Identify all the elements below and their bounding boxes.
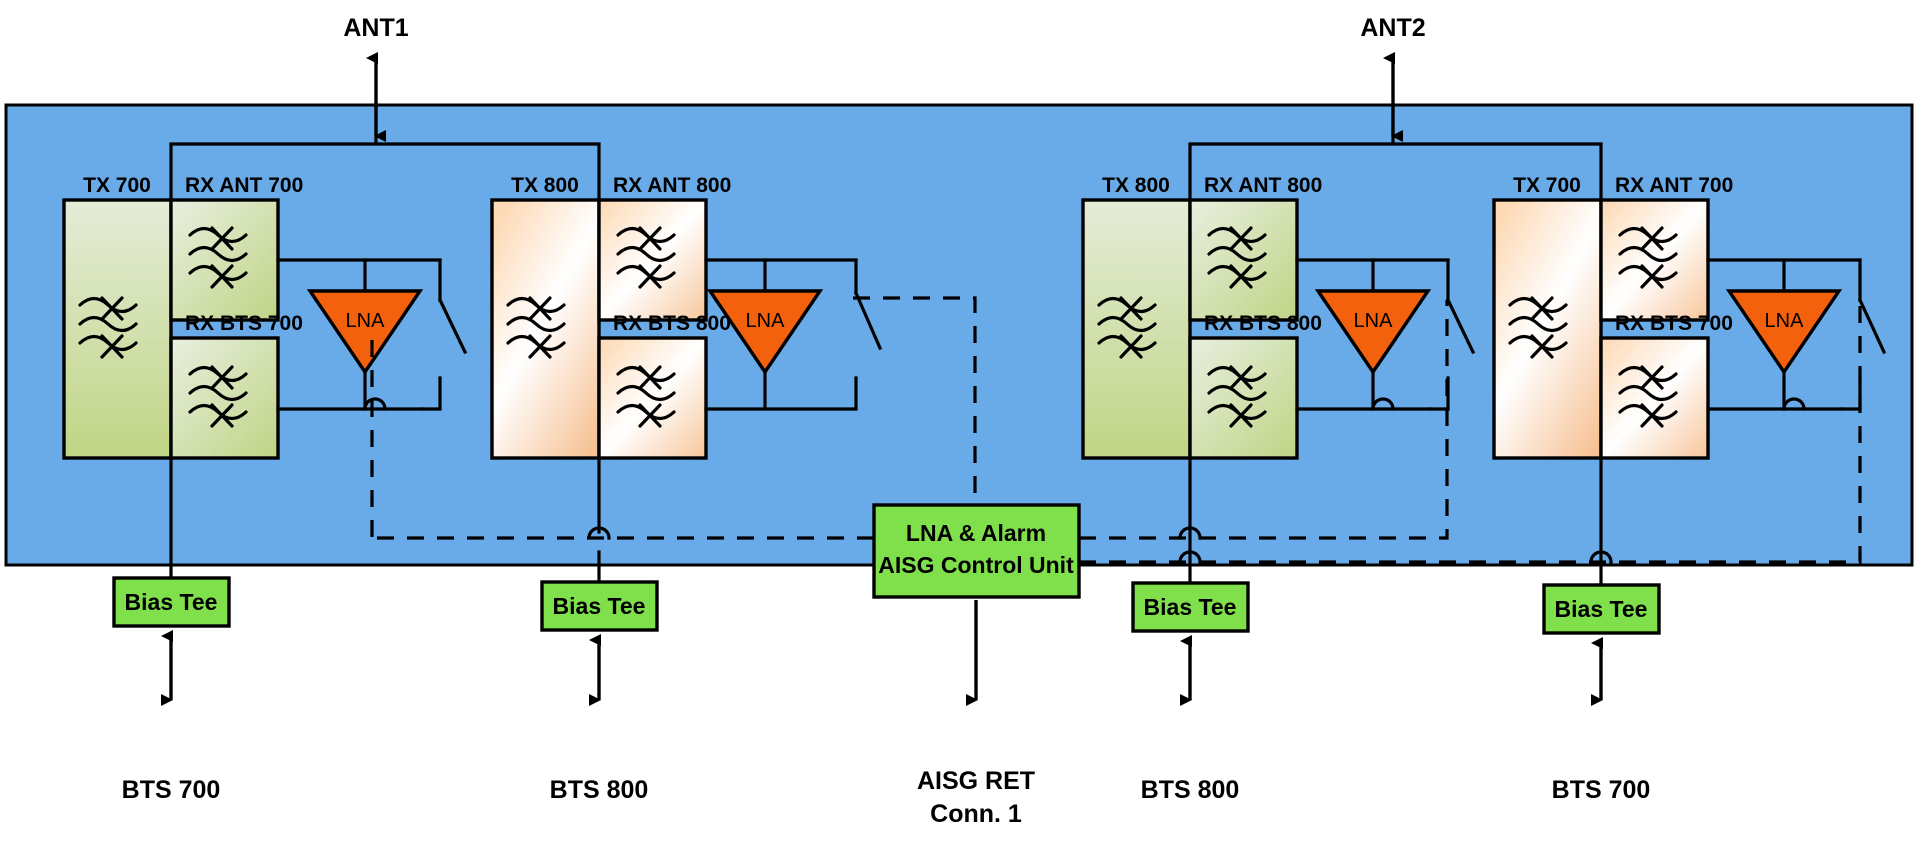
g2-tx-label: TX 800 — [511, 174, 579, 197]
g4-lna-label: LNA — [1765, 310, 1805, 332]
g4-tx-label: TX 700 — [1513, 174, 1581, 197]
g4-rx-ant-label: RX ANT 700 — [1615, 174, 1733, 197]
aisg-ret-label-line1: AISG RET — [917, 767, 1035, 795]
rf-block-diagram: ANT1 ANT2 TX 700 RX ANT 700 RX BTS 700 L… — [0, 0, 1918, 850]
g2-rx-bts-label: RX BTS 800 — [613, 312, 731, 335]
g1-tx-label: TX 700 — [83, 174, 151, 197]
g2-lna-label: LNA — [746, 310, 786, 332]
g4-bts-label: BTS 700 — [1552, 776, 1651, 804]
diagram-canvas: ANT1 ANT2 TX 700 RX ANT 700 RX BTS 700 L… — [0, 0, 1918, 850]
g1-lna-label: LNA — [346, 310, 386, 332]
aisg-control-unit-line1: LNA & Alarm — [906, 520, 1046, 546]
aisg-control-unit-box — [874, 505, 1079, 597]
g2-bias-tee-label: Bias Tee — [553, 593, 646, 619]
g2-rx-ant-label: RX ANT 800 — [613, 174, 731, 197]
g1-bias-tee-label: Bias Tee — [125, 589, 218, 615]
g3-bts-label: BTS 800 — [1141, 776, 1240, 804]
g3-lna-label: LNA — [1354, 310, 1394, 332]
ant2-label: ANT2 — [1360, 14, 1425, 42]
g3-bias-tee-label: Bias Tee — [1144, 594, 1237, 620]
ant1-label: ANT1 — [343, 14, 408, 42]
aisg-control-unit-line2: AISG Control Unit — [878, 552, 1074, 578]
g1-bts-label: BTS 700 — [122, 776, 221, 804]
g3-rx-ant-label: RX ANT 800 — [1204, 174, 1322, 197]
g4-rx-bts-label: RX BTS 700 — [1615, 312, 1733, 335]
g3-tx-label: TX 800 — [1102, 174, 1170, 197]
g1-rx-bts-label: RX BTS 700 — [185, 312, 303, 335]
g1-rx-ant-label: RX ANT 700 — [185, 174, 303, 197]
aisg-ret-label-line2: Conn. 1 — [930, 800, 1022, 828]
g2-bts-label: BTS 800 — [550, 776, 649, 804]
g3-rx-bts-label: RX BTS 800 — [1204, 312, 1322, 335]
g4-bias-tee-label: Bias Tee — [1555, 596, 1648, 622]
